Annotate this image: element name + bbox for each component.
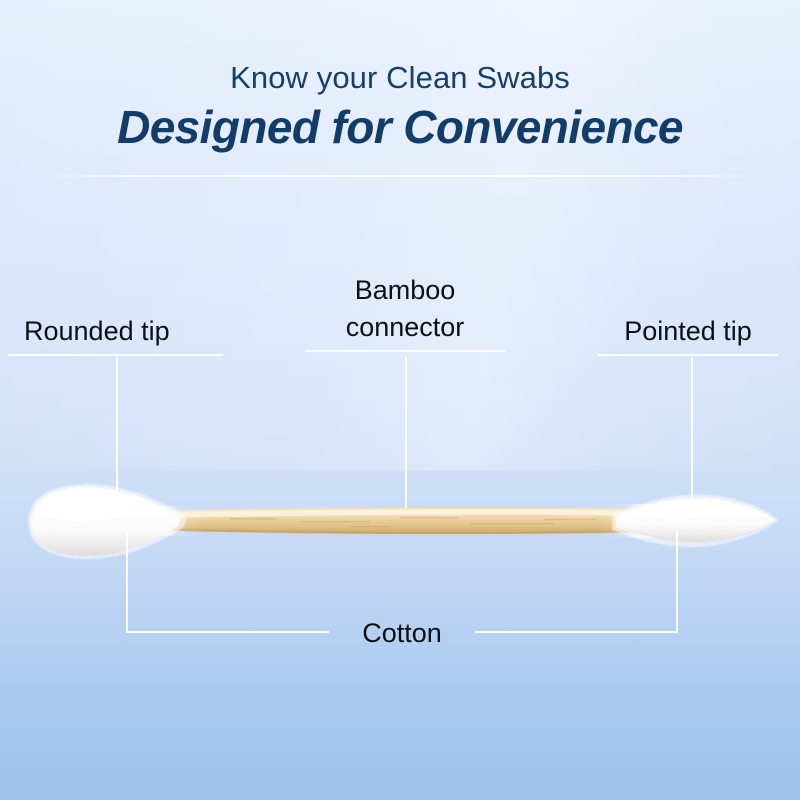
leader-line-rounded-tip xyxy=(116,357,118,503)
callout-cotton: Cotton xyxy=(126,531,678,633)
cotton-bracket-bottom-left xyxy=(126,631,329,633)
callout-pointed-tip-underline xyxy=(598,354,778,356)
callout-rounded-tip-underline xyxy=(8,354,223,356)
cotton-bracket-left-line xyxy=(126,531,128,633)
callout-pointed-tip: Pointed tip xyxy=(598,313,778,356)
headline-subtitle: Know your Clean Swabs xyxy=(0,58,800,98)
callout-rounded-tip-label: Rounded tip xyxy=(8,313,223,350)
callout-bamboo-connector-label: Bamboo xyxy=(305,272,505,309)
callout-bamboo-connector: Bamboo connector xyxy=(305,272,505,352)
cotton-bracket-bottom-right xyxy=(475,631,678,633)
infographic-canvas: Know your Clean Swabs Designed for Conve… xyxy=(0,0,800,800)
callout-pointed-tip-label: Pointed tip xyxy=(598,313,778,350)
callout-cotton-label: Cotton xyxy=(352,618,452,648)
leader-line-bamboo-connector xyxy=(405,357,407,508)
callout-rounded-tip: Rounded tip xyxy=(8,313,223,356)
cotton-bracket-right-line xyxy=(676,531,678,633)
headline-block: Know your Clean Swabs Designed for Conve… xyxy=(0,58,800,156)
headline-divider xyxy=(50,175,750,177)
callout-bamboo-connector-label-line2: connector xyxy=(305,309,505,346)
leader-line-pointed-tip xyxy=(691,357,693,497)
headline-title: Designed for Convenience xyxy=(0,98,800,156)
callout-bamboo-connector-underline xyxy=(305,350,505,352)
